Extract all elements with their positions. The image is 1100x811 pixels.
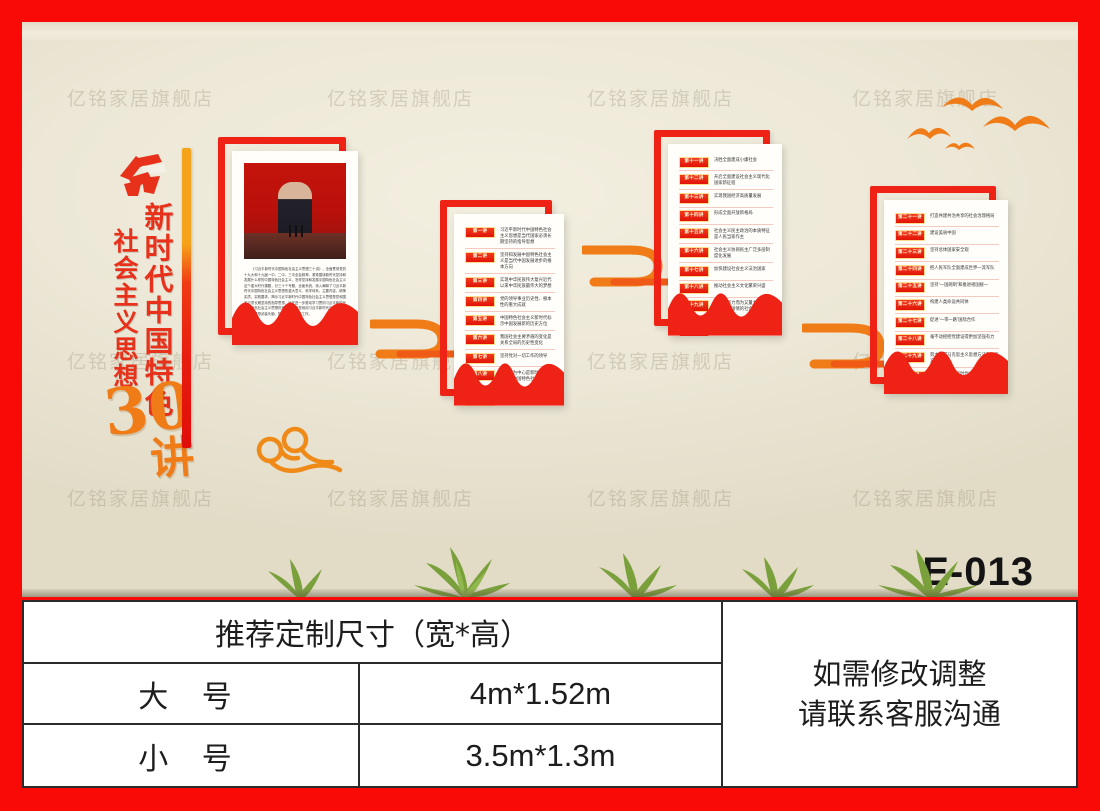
table-row: 大 号 4m*1.52m — [24, 664, 721, 725]
list-item[interactable]: 第六讲我国社会主要矛盾的变化是关系全局的历史性变化 — [465, 331, 555, 350]
vertical-accent-bar — [182, 148, 191, 448]
headline-line-2: 社会主义思想 — [106, 228, 142, 390]
watermark: 亿铭家居旗舰店 — [587, 347, 734, 374]
lecture-badge: 第十二讲 — [679, 174, 709, 185]
lecture-badge: 第二十二讲 — [895, 230, 925, 241]
lecture-text: 坚持和发展中国特色社会主义是当代中国发展进步的根本方向 — [500, 252, 555, 271]
panel-sheet: 第十一讲决胜全面建成小康社会 第十二讲开启全面建设社会主义现代化国家新征程 第十… — [668, 144, 782, 336]
panel-sheet: 第二十一讲打造共建共治共享的社会治理格局 第二十二讲建设美丽中国 第二十三讲坚持… — [884, 200, 1008, 394]
watermark: 亿铭家居旗舰店 — [327, 484, 474, 511]
ceiling-strip — [22, 22, 1078, 40]
lecture-text: 我国社会主要矛盾的变化是关系全局的历史性变化 — [500, 334, 555, 347]
lecture-text: 把人民军队全面建成世界一流军队 — [930, 265, 999, 272]
lecture-badge: 第十七讲 — [679, 266, 709, 277]
list-item[interactable]: 第十三讲实现我国经济高质量发展 — [679, 190, 773, 207]
watermark: 亿铭家居旗舰店 — [67, 484, 214, 511]
panel-lectures-11-20[interactable]: 第十一讲决胜全面建成小康社会 第十二讲开启全面建设社会主义现代化国家新征程 第十… — [654, 130, 770, 326]
note-line-2: 请联系客服沟通 — [798, 696, 1001, 732]
lecture-badge: 第三讲 — [465, 277, 495, 288]
lecture-badge: 第二十六讲 — [895, 299, 925, 310]
size-table-header: 推荐定制尺寸（宽*高） — [24, 602, 721, 664]
lecture-badge: 第二十七讲 — [895, 317, 925, 328]
lecture-text: 促进'一带一路'国际合作 — [930, 317, 999, 324]
list-item[interactable]: 第十五讲社会主义民主政治的本质特征是人民当家作主 — [679, 225, 773, 244]
lecture-badge: 第二十三讲 — [895, 247, 925, 258]
list-item[interactable]: 第二十二讲建设美丽中国 — [895, 227, 999, 244]
watermark: 亿铭家居旗舰店 — [852, 484, 999, 511]
panel-intro[interactable]: 《习近平新时代中国特色社会主义思想三十讲》，全面贯彻党的十九大和十九届一中、二中… — [218, 137, 346, 335]
panel-sheet: 第一讲习近平新时代中国特色社会主义思想是当代国家必须长期坚持的指导思想 第二讲坚… — [454, 214, 564, 406]
list-item[interactable]: 第二十四讲把人民军队全面建成世界一流军队 — [895, 262, 999, 279]
plant-decoration — [852, 537, 1002, 597]
size-table: 推荐定制尺寸（宽*高） 大 号 4m*1.52m 小 号 3.5m*1.3m — [22, 600, 722, 788]
lecture-badge: 第一讲 — [465, 227, 495, 238]
customer-service-note: 如需修改调整 请联系客服沟通 — [722, 600, 1078, 788]
list-item[interactable]: 第二十一讲打造共建共治共享的社会治理格局 — [895, 210, 999, 227]
size-label: 小 号 — [24, 725, 360, 786]
watermark: 亿铭家居旗舰店 — [587, 484, 734, 511]
auspicious-cloud-icon — [240, 420, 345, 482]
size-info-bar: 推荐定制尺寸（宽*高） 大 号 4m*1.52m 小 号 3.5m*1.3m 如… — [22, 600, 1078, 788]
table-row: 小 号 3.5m*1.3m — [24, 725, 721, 786]
lecture-badge: 第十五讲 — [679, 228, 709, 239]
list-item[interactable]: 第四讲党的领导事业历史性、根本性的重大成就 — [465, 293, 555, 312]
microphone-icon — [301, 225, 303, 237]
size-value: 4m*1.52m — [360, 664, 721, 723]
lecture-badge: 第二十一讲 — [895, 213, 925, 224]
list-item[interactable]: 第二十五讲坚持'一国两制'和推进祖国统一 — [895, 280, 999, 297]
list-item[interactable]: 第一讲习近平新时代中国特色社会主义思想是当代国家必须长期坚持的指导思想 — [465, 224, 555, 249]
watermark: 亿铭家居旗舰店 — [327, 84, 474, 111]
panel-lectures-1-10[interactable]: 第一讲习近平新时代中国特色社会主义思想是当代国家必须长期坚持的指导思想 第二讲坚… — [440, 200, 552, 396]
lecture-text: 坚持总体国家安全观 — [930, 247, 999, 254]
list-item[interactable]: 第二十六讲构建人类命运共同体 — [895, 297, 999, 314]
watermark: 亿铭家居旗舰店 — [67, 84, 214, 111]
lecture-badge: 第十六讲 — [679, 247, 709, 258]
red-wave-decoration — [232, 287, 358, 345]
microphone-icon — [295, 225, 297, 237]
flying-birds-icon — [887, 77, 1057, 162]
lecture-text: 实现中华民族伟大复兴近代以来中华民族最伟大的梦想 — [500, 277, 555, 290]
panel-sheet: 《习近平新时代中国特色社会主义思想三十讲》，全面贯彻党的十九大和十九届一中、二中… — [232, 151, 358, 345]
lecture-text: 开启全面建设社会主义现代化国家新征程 — [714, 174, 773, 187]
lecture-text: 坚持'一国两制'和推进祖国统一 — [930, 282, 999, 289]
lecture-badge: 第四讲 — [465, 296, 495, 307]
lecture-text: 建设美丽中国 — [930, 230, 999, 237]
leader-photo — [244, 163, 346, 259]
lecture-text: 形成全面开放新格局 — [714, 210, 773, 217]
lecture-badge: 第五讲 — [465, 315, 495, 326]
lecture-text: 实现我国经济高质量发展 — [714, 193, 773, 200]
red-wave-decoration — [884, 336, 1008, 394]
lecture-badge: 第二十四讲 — [895, 265, 925, 276]
floor-line — [22, 589, 1078, 597]
list-item[interactable]: 第十一讲决胜全面建成小康社会 — [679, 154, 773, 171]
lecture-text: 中国特色社会主义新时代标示中国发展新的历史方位 — [500, 315, 555, 328]
list-item[interactable]: 第五讲中国特色社会主义新时代标示中国发展新的历史方位 — [465, 312, 555, 331]
panel-lectures-21-30[interactable]: 第二十一讲打造共建共治共享的社会治理格局 第二十二讲建设美丽中国 第二十三讲坚持… — [870, 186, 996, 384]
lecture-badge: 第六讲 — [465, 334, 495, 345]
lecture-badge: 第十四讲 — [679, 210, 709, 221]
lecture-badge: 第十一讲 — [679, 157, 709, 168]
list-item[interactable]: 第十六讲社会主义协商民主广泛多层制度化发展 — [679, 244, 773, 263]
headline-block: 新时代中国特色 社会主义思想 30 讲 — [92, 150, 212, 480]
lecture-text: 社会主义民主政治的本质特征是人民当家作主 — [714, 228, 773, 241]
lecture-text: 党的领导事业历史性、根本性的重大成就 — [500, 296, 555, 309]
list-item[interactable]: 第十四讲形成全面开放新格局 — [679, 208, 773, 225]
lecture-badge: 第二讲 — [465, 252, 495, 263]
lecture-text: 打造共建共治共享的社会治理格局 — [930, 213, 999, 220]
list-item[interactable]: 第二十三讲坚持总体国家安全观 — [895, 245, 999, 262]
lecture-text: 习近平新时代中国特色社会主义思想是当代国家必须长期坚持的指导思想 — [500, 227, 555, 246]
lecture-text: 构建人类命运共同体 — [930, 299, 999, 306]
lecture-badge: 第二十五讲 — [895, 282, 925, 293]
note-line-1: 如需修改调整 — [812, 656, 986, 692]
party-emblem-icon — [114, 150, 174, 202]
lecture-text: 社会主义协商民主广泛多层制度化发展 — [714, 247, 773, 260]
product-listing-image: 亿铭家居旗舰店 亿铭家居旗舰店 亿铭家居旗舰店 亿铭家居旗舰店 亿铭家居旗舰店 … — [0, 0, 1100, 811]
size-value: 3.5m*1.3m — [360, 725, 721, 786]
list-item[interactable]: 第二十七讲促进'一带一路'国际合作 — [895, 314, 999, 331]
microphone-icon — [289, 225, 291, 237]
lecture-text: 加快建设社会主义法治国家 — [714, 266, 773, 273]
lecture-badge: 第十三讲 — [679, 193, 709, 204]
wall-mural-scene: 亿铭家居旗舰店 亿铭家居旗舰店 亿铭家居旗舰店 亿铭家居旗舰店 亿铭家居旗舰店 … — [22, 22, 1078, 597]
plant-decoration — [392, 537, 532, 597]
watermark: 亿铭家居旗舰店 — [587, 84, 734, 111]
red-wave-decoration — [454, 348, 564, 406]
list-item[interactable]: 第三讲实现中华民族伟大复兴近代以来中华民族最伟大的梦想 — [465, 274, 555, 293]
red-wave-decoration — [668, 278, 782, 336]
lecture-text: 决胜全面建成小康社会 — [714, 157, 773, 164]
list-item[interactable]: 第十二讲开启全面建设社会主义现代化国家新征程 — [679, 171, 773, 190]
list-item[interactable]: 第二讲坚持和发展中国特色社会主义是当代中国发展进步的根本方向 — [465, 249, 555, 274]
size-label: 大 号 — [24, 664, 360, 723]
